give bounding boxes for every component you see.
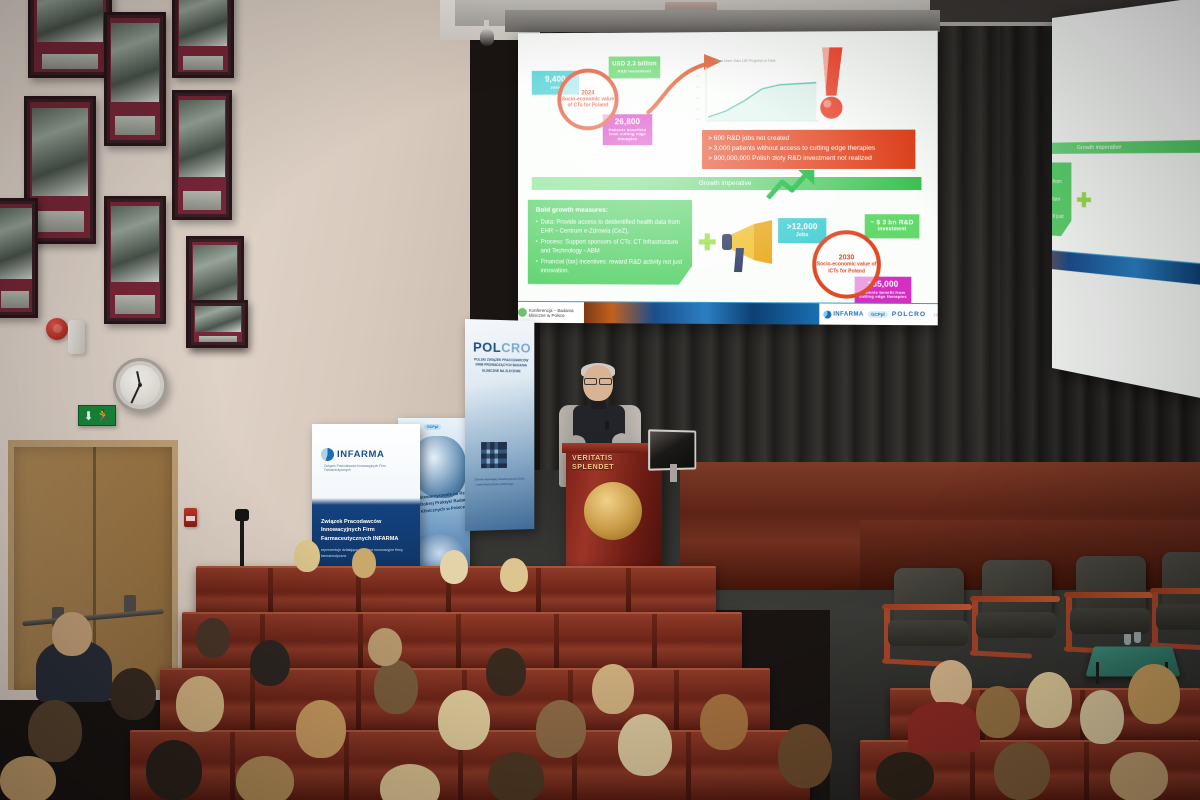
slide-footer-mirror: Konferencja – Badania kliniczne w Polsce [1052, 241, 1200, 296]
footer-polcro-logo: POLCRO [892, 311, 926, 318]
audience-head [536, 700, 586, 758]
running-person-icon: 🏃 [96, 410, 111, 422]
gcp-image-top [412, 436, 466, 498]
audience-head [618, 714, 672, 776]
audience-head [930, 660, 972, 708]
infarma-logo-subtitle: Związek Pracodawców Innowacyjnych Firm F… [324, 464, 409, 472]
banner-polcro: POLCRO POLSKI ZWIĄZEK PRACODAWCÓW FIRM P… [465, 319, 534, 531]
audience-head [994, 742, 1050, 800]
audience-head [592, 664, 634, 714]
footer-logo-icon [518, 308, 527, 317]
measure-item: Data: Provide access to deidentified hea… [536, 219, 684, 237]
audience-head [250, 640, 290, 686]
footer-gcp-logo: GCPpl [868, 311, 888, 318]
qr-code-icon [481, 442, 507, 468]
confidence-monitor [648, 430, 698, 470]
eyeglasses-icon [584, 378, 612, 383]
infarma-swirl-icon [321, 448, 334, 461]
audience-head [488, 752, 544, 800]
main-projection-screen: 9,400 Jobs USD 2.3 billion R&D investmen… [518, 31, 938, 326]
panel-chair[interactable] [884, 568, 970, 672]
portrait-frame [172, 90, 232, 220]
growth-arrow-icon [766, 168, 828, 202]
footer-image-strip [584, 302, 819, 324]
audience-head [110, 668, 156, 720]
audience-head [236, 756, 294, 800]
infarma-logo: INFARMA [321, 448, 384, 461]
down-arrow-icon: ⬇ [83, 410, 93, 422]
alert-line: > 900,000,000 Polish złoty R&D investmen… [708, 154, 909, 164]
footer-infarma-logo: INFARMA [823, 310, 864, 318]
slide-footer: Konferencja – Badania kliniczne w Polsce… [518, 301, 938, 325]
portrait-frame [104, 12, 166, 146]
tag-rd-investment-2030: ~ $ 3 bn R&D investment [865, 214, 920, 238]
svg-text:25: 25 [696, 85, 700, 89]
plus-icon-mirror: ✚ [1076, 191, 1091, 211]
audience-head [296, 700, 346, 758]
university-emblem [584, 482, 642, 540]
lapel-microphone [605, 421, 609, 430]
polcro-subtitle: POLSKI ZWIĄZEK PRACODAWCÓW FIRM PROWADZĄ… [474, 358, 528, 375]
audience-head [368, 628, 402, 666]
portrait-frame [104, 196, 166, 324]
svg-text:30: 30 [696, 74, 700, 78]
fire-alarm-call-point[interactable] [184, 508, 197, 527]
audience-head [440, 550, 468, 584]
svg-text:15: 15 [696, 107, 700, 111]
portrait-frame [188, 300, 248, 348]
infarma-wordmark: INFARMA [337, 449, 384, 460]
audience-head [778, 724, 832, 788]
megaphone-icon [720, 220, 782, 278]
gcp-pill-label: GCPpl [424, 424, 441, 430]
growth-band-mirror: Growth imperative [1052, 138, 1200, 154]
minichart-title: Trend lines: than 150 Progress in Total [714, 59, 775, 63]
alert-line: > 600 R&D jobs not created [708, 134, 909, 145]
circle-2030-value: 2030 Socio-economic value of iCTs for Po… [812, 230, 881, 299]
audience-head [500, 558, 528, 592]
wall-clock [113, 358, 167, 412]
svg-text:10: 10 [696, 117, 700, 121]
audience-head [1080, 690, 1124, 744]
auditorium-photo: ⬇ 🏃 9,400 Jobs USD 2.3 billion R&D inves… [0, 0, 1200, 800]
measures-mirror: Bold growth measures: Data: Provide acce… [1052, 162, 1072, 237]
measure-item: Financial (tax) incentives: reward R&D a… [536, 258, 684, 276]
audience-head [52, 612, 92, 656]
water-glass [1134, 632, 1141, 643]
alarm-bell-icon [46, 318, 68, 340]
panel-chair[interactable] [972, 560, 1058, 664]
audience-head [352, 548, 376, 578]
portrait-frame [172, 0, 234, 78]
portrait-frame [0, 198, 38, 318]
portrait-frame [28, 0, 112, 78]
audience-head [1128, 664, 1180, 724]
audience-head [976, 686, 1020, 738]
audience-head [0, 756, 56, 800]
audience-head [196, 618, 230, 658]
measure-item: Process: Support sponsors of CTs: CT Inf… [536, 238, 684, 256]
alert-box: > 600 R&D jobs not created > 3,000 patie… [702, 130, 915, 169]
presentation-slide: 9,400 Jobs USD 2.3 billion R&D investmen… [518, 31, 938, 326]
podium-motto: VERITATIS SPLENDET [572, 454, 656, 473]
audience-shoulders [908, 702, 980, 752]
audience-head [486, 648, 526, 696]
plus-icon: ✚ [698, 232, 716, 254]
audience-head [876, 752, 934, 800]
audience-head [1110, 752, 1168, 800]
growth-imperative-band: Growth imperative [532, 177, 922, 190]
alert-line: > 3,000 patients without access to cutti… [708, 144, 909, 155]
audience-head [176, 676, 224, 732]
audience-head [438, 690, 490, 750]
security-camera-icon [480, 20, 494, 46]
exclamation-mark-icon [812, 45, 848, 119]
emergency-exit-sign: ⬇ 🏃 [78, 405, 116, 426]
slide-page-number: 13 [933, 312, 938, 317]
tag-jobs-2030: >12,000 Jobs [778, 218, 826, 243]
wall-speaker [68, 320, 85, 354]
secondary-projection-screen: 9,400 Jobs USD 2.3 billion R&D investmen… [1052, 0, 1200, 402]
water-glass [1124, 634, 1131, 645]
audience-head [374, 660, 418, 714]
trend-minichart: 302520 1510 [692, 65, 822, 132]
screen-valance [505, 10, 940, 32]
circle-2024-value: 2024 Socio-economic value of CTs for Pol… [557, 69, 618, 131]
audience-head [146, 740, 202, 800]
polcro-footnote: Członek wspierający Stowarzyszenia GCPpl… [474, 478, 525, 488]
audience-head [294, 540, 320, 572]
footer-note: Konferencja – Badania kliniczne w Polsce [527, 307, 584, 317]
audience-head [28, 700, 82, 762]
bold-growth-measures-box: Bold growth measures: Data: Provide acce… [528, 200, 692, 285]
audience-head [700, 694, 748, 750]
infarma-swirl-icon [823, 310, 831, 318]
svg-text:20: 20 [696, 96, 700, 100]
polcro-wordmark: POLCRO [473, 339, 531, 355]
audience-head [1026, 672, 1072, 728]
measures-heading: Bold growth measures: [536, 206, 684, 216]
